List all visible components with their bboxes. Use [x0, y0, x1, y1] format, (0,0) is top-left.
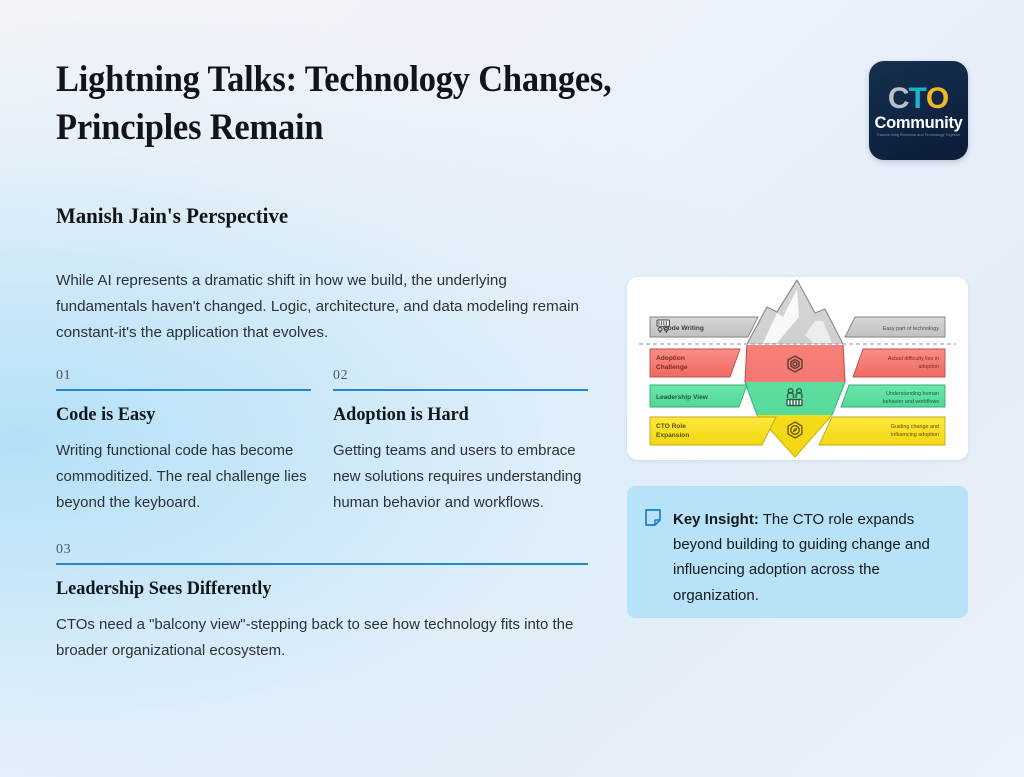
point-card-01: 01 Code is Easy Writing functional code …: [56, 368, 311, 515]
point-number: 03: [56, 542, 588, 563]
iceberg-diagram: Code Writing Adoption Challenge Leadersh…: [627, 277, 968, 460]
iceberg-diagram-card: Code Writing Adoption Challenge Leadersh…: [627, 277, 968, 460]
logo-letters: C T O: [888, 84, 949, 114]
point-divider: [333, 389, 588, 391]
band-right-label-3a: Guiding change and: [891, 424, 939, 430]
point-body: Writing functional code has become commo…: [56, 438, 311, 515]
band-right-label-3b: influencing adoption: [891, 432, 939, 438]
intro-paragraph: While AI represents a dramatic shift in …: [56, 268, 588, 346]
point-card-02: 02 Adoption is Hard Getting teams and us…: [333, 368, 588, 515]
point-body: CTOs need a "balcony view"-stepping back…: [56, 612, 588, 664]
band-left-label-0: Code Writing: [663, 325, 704, 332]
point-heading: Leadership Sees Differently: [56, 578, 567, 600]
points-row: 01 Code is Easy Writing functional code …: [56, 368, 588, 515]
band-right-label-1b: adoption: [918, 364, 939, 370]
logo-tagline: Transforming Business and Technology Tog…: [876, 134, 960, 138]
point-card-03: 03 Leadership Sees Differently CTOs need…: [56, 542, 588, 664]
left-content-column: While AI represents a dramatic shift in …: [56, 268, 588, 663]
band-right-plate-1: [853, 349, 945, 377]
point-body: Getting teams and users to embrace new s…: [333, 438, 588, 515]
band-left-plate-1: [650, 349, 740, 377]
point-number: 01: [56, 368, 311, 389]
logo-letter-o: O: [926, 84, 949, 114]
logo-wordmark: Community: [874, 115, 962, 132]
point-heading: Adoption is Hard: [333, 404, 578, 426]
point-heading: Code is Easy: [56, 404, 301, 426]
slide-canvas: Lightning Talks: Technology Changes, Pri…: [0, 0, 1024, 777]
band-left-label-3a: CTO Role: [656, 423, 686, 430]
sticky-note-icon: [645, 507, 673, 618]
band-right-label-2a: Understanding human: [886, 391, 939, 397]
band-left-plate-3: [650, 417, 776, 445]
band-left-label-1b: Challenge: [656, 364, 688, 371]
point-divider: [56, 563, 588, 565]
band-left-label-1a: Adoption: [656, 355, 685, 362]
point-number: 02: [333, 368, 588, 389]
band-right-label-1a: Actual difficulty lies in: [888, 356, 939, 362]
key-insight-label: Key Insight:: [673, 511, 759, 528]
logo-letter-c: C: [888, 84, 910, 114]
key-insight-text: Key Insight: The CTO role expands beyond…: [673, 507, 948, 618]
band-right-plate-3: [819, 417, 945, 445]
point-divider: [56, 389, 311, 391]
section-subtitle: Manish Jain's Perspective: [56, 203, 288, 229]
cto-community-logo: C T O Community Transforming Business an…: [869, 61, 968, 160]
page-title: Lightning Talks: Technology Changes, Pri…: [56, 56, 763, 152]
band-right-label-0: Easy part of technology: [883, 326, 940, 332]
band-left-label-3b: Expansion: [656, 432, 689, 439]
band-right-label-2b: behavior and workflows: [883, 399, 940, 405]
key-insight-card: Key Insight: The CTO role expands beyond…: [627, 486, 968, 618]
logo-letter-t: T: [909, 84, 927, 114]
slide-header: Lightning Talks: Technology Changes, Pri…: [56, 56, 968, 160]
band-left-label-2: Leadership View: [656, 394, 709, 401]
